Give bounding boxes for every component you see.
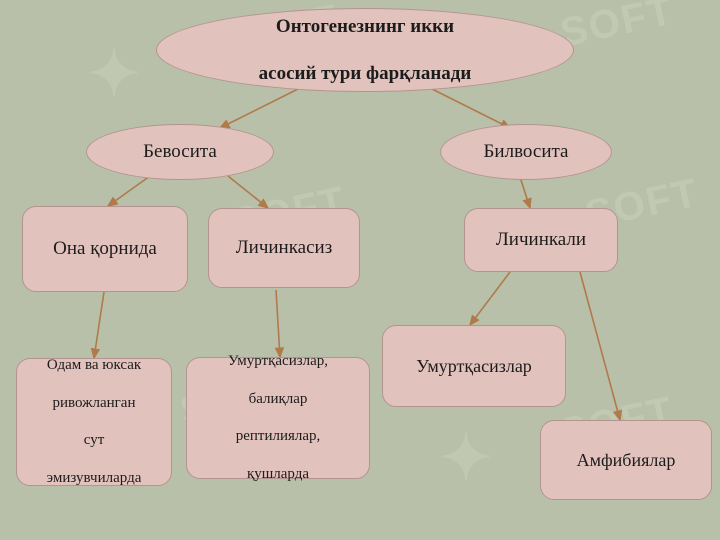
watermark-text: SOFT	[557, 0, 679, 56]
node-invert-line1: Умуртқасизлар,	[193, 352, 363, 371]
node-in-mother-label: Она қорнида	[23, 238, 187, 261]
node-direct-label: Бевосита	[87, 141, 273, 164]
node-invertebrates-fish-label: Умуртқасизлар, балиқлар рептилиялар, қуш…	[187, 352, 369, 483]
node-larval[interactable]: Личинкали	[464, 208, 618, 272]
node-invertebrates[interactable]: Умуртқасизлар	[382, 325, 566, 407]
link-inmother-humans	[94, 292, 104, 358]
link-direct-larvaless	[228, 176, 268, 208]
node-root-line1: Онтогенезнинг икки	[163, 15, 567, 38]
node-indirect-label: Билвосита	[441, 141, 611, 164]
node-larvaless-label: Личинкасиз	[209, 237, 359, 260]
node-direct[interactable]: Бевосита	[86, 124, 274, 180]
link-larvaless-invertfish	[276, 290, 280, 357]
node-root-line2: асосий тури фарқланади	[163, 62, 567, 85]
link-indirect-larval	[520, 177, 530, 208]
link-direct-inmother	[108, 176, 150, 206]
node-amphibians[interactable]: Амфибиялар	[540, 420, 712, 500]
link-root-indirect	[430, 88, 510, 128]
diagram-canvas: ✦ SOFT ✦ SOFT ✦ SOFT ✦ SOFT ✦ SOFT ✦ SOF…	[0, 0, 720, 540]
link-larval-amphibians	[580, 272, 620, 420]
link-larval-invertebrates	[470, 272, 510, 325]
watermark-logo: ✦	[88, 44, 140, 106]
node-humans-line1: Одам ва юксак	[23, 356, 165, 375]
node-invertebrates-label: Умуртқасизлар	[383, 355, 565, 378]
node-humans-line3: сут	[23, 431, 165, 450]
node-root[interactable]: Онтогенезнинг иккиасосий тури фарқланади	[156, 8, 574, 92]
node-invert-line4: қушларда	[193, 465, 363, 484]
node-larvaless[interactable]: Личинкасиз	[208, 208, 360, 288]
node-invert-line2: балиқлар	[193, 390, 363, 409]
watermark-logo: ✦	[440, 428, 492, 490]
node-larval-label: Личинкали	[465, 229, 617, 252]
link-root-direct	[220, 88, 300, 128]
node-humans-label: Одам ва юксак ривожланган сут эмизувчила…	[17, 356, 171, 487]
node-invertebrates-fish[interactable]: Умуртқасизлар, балиқлар рептилиялар, қуш…	[186, 357, 370, 479]
node-humans-line4: эмизувчиларда	[23, 469, 165, 488]
node-indirect[interactable]: Билвосита	[440, 124, 612, 180]
node-humans[interactable]: Одам ва юксак ривожланган сут эмизувчила…	[16, 358, 172, 486]
node-amphibians-label: Амфибиялар	[541, 449, 711, 472]
node-root-label: Онтогенезнинг иккиасосий тури фарқланади	[157, 15, 573, 85]
node-humans-line2: ривожланган	[23, 394, 165, 413]
node-in-mother[interactable]: Она қорнида	[22, 206, 188, 292]
node-invert-line3: рептилиялар,	[193, 427, 363, 446]
